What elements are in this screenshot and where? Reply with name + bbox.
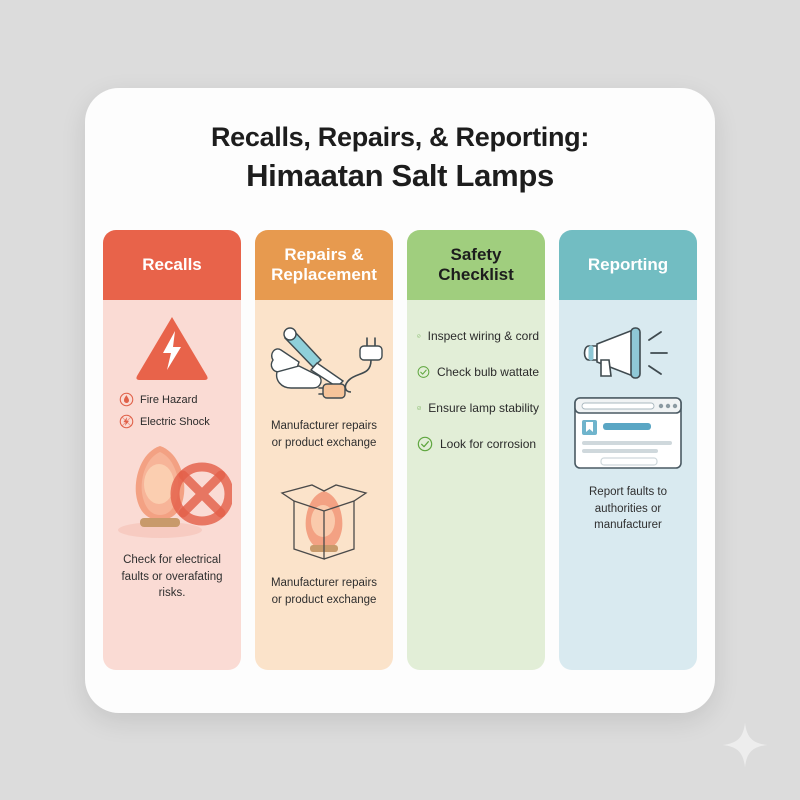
title-line-1: Recalls, Repairs, & Reporting:: [115, 122, 685, 153]
infographic-card: Recalls, Repairs, & Reporting: Himaatan …: [85, 88, 715, 713]
column-header-label: Safety Checklist: [413, 245, 539, 284]
column-header-safety-checklist: Safety Checklist: [407, 230, 545, 300]
check-circle-icon: [417, 436, 433, 452]
column-caption-top: Manufacturer repairs or product exchange: [261, 418, 387, 451]
risk-list: Fire Hazard Electric Shock: [119, 392, 235, 429]
check-circle-icon: [417, 364, 430, 380]
column-safety-checklist[interactable]: Safety Checklist Inspect wiring & cord: [407, 230, 545, 670]
column-body-safety-checklist: Inspect wiring & cord Check bulb wattate: [407, 300, 545, 670]
checklist: Inspect wiring & cord Check bulb wattate: [417, 328, 539, 452]
column-header-recalls: Recalls: [103, 230, 241, 300]
checklist-label: Ensure lamp stability: [428, 401, 539, 415]
checklist-item[interactable]: Ensure lamp stability: [417, 400, 539, 416]
column-body-repairs-replacement: Manufacturer repairs or product exchange…: [255, 300, 393, 670]
column-caption-bottom: Manufacturer repairs or product exchange: [261, 575, 387, 608]
columns-container: Recalls Fire Hazard: [103, 230, 697, 670]
checklist-label: Look for corrosion: [440, 437, 536, 451]
boxed-salt-lamp-icon: [270, 467, 378, 563]
page-title: Recalls, Repairs, & Reporting: Himaatan …: [85, 88, 715, 194]
risk-label: Electric Shock: [140, 416, 210, 428]
megaphone-icon: [579, 322, 677, 384]
checklist-item[interactable]: Inspect wiring & cord: [417, 328, 539, 344]
warning-triangle-icon: [134, 314, 210, 382]
checklist-item[interactable]: Look for corrosion: [417, 436, 539, 452]
column-repairs-replacement[interactable]: Repairs & Replacement: [255, 230, 393, 670]
electric-shock-icon: [119, 414, 134, 429]
column-recalls[interactable]: Recalls Fire Hazard: [103, 230, 241, 670]
checklist-label: Inspect wiring & cord: [428, 329, 539, 343]
risk-item: Electric Shock: [119, 414, 235, 429]
check-circle-icon: [417, 400, 421, 416]
hand-screwdriver-plug-icon: [261, 320, 387, 406]
column-header-repairs-replacement: Repairs & Replacement: [255, 230, 393, 300]
column-header-reporting: Reporting: [559, 230, 697, 300]
checklist-label: Check bulb wattate: [437, 365, 539, 379]
column-reporting[interactable]: Reporting: [559, 230, 697, 670]
column-caption: Check for electrical faults or overafati…: [109, 552, 235, 602]
column-body-recalls: Fire Hazard Electric Shock: [103, 300, 241, 670]
checklist-item[interactable]: Check bulb wattate: [417, 364, 539, 380]
browser-window-report-icon: [573, 396, 683, 470]
column-body-reporting: Report faults to authorities or manufact…: [559, 300, 697, 670]
title-line-2: Himaatan Salt Lamps: [115, 158, 685, 194]
fire-hazard-icon: [119, 392, 134, 407]
column-caption: Report faults to authorities or manufact…: [565, 484, 691, 534]
risk-label: Fire Hazard: [140, 394, 197, 406]
risk-item: Fire Hazard: [119, 392, 235, 407]
sparkle-icon: [722, 722, 768, 768]
column-header-label: Reporting: [588, 255, 668, 275]
column-header-label: Recalls: [142, 255, 202, 275]
check-circle-icon: [417, 328, 421, 344]
column-header-label: Repairs & Replacement: [261, 245, 387, 284]
salt-lamp-prohibited-icon: [112, 436, 232, 544]
